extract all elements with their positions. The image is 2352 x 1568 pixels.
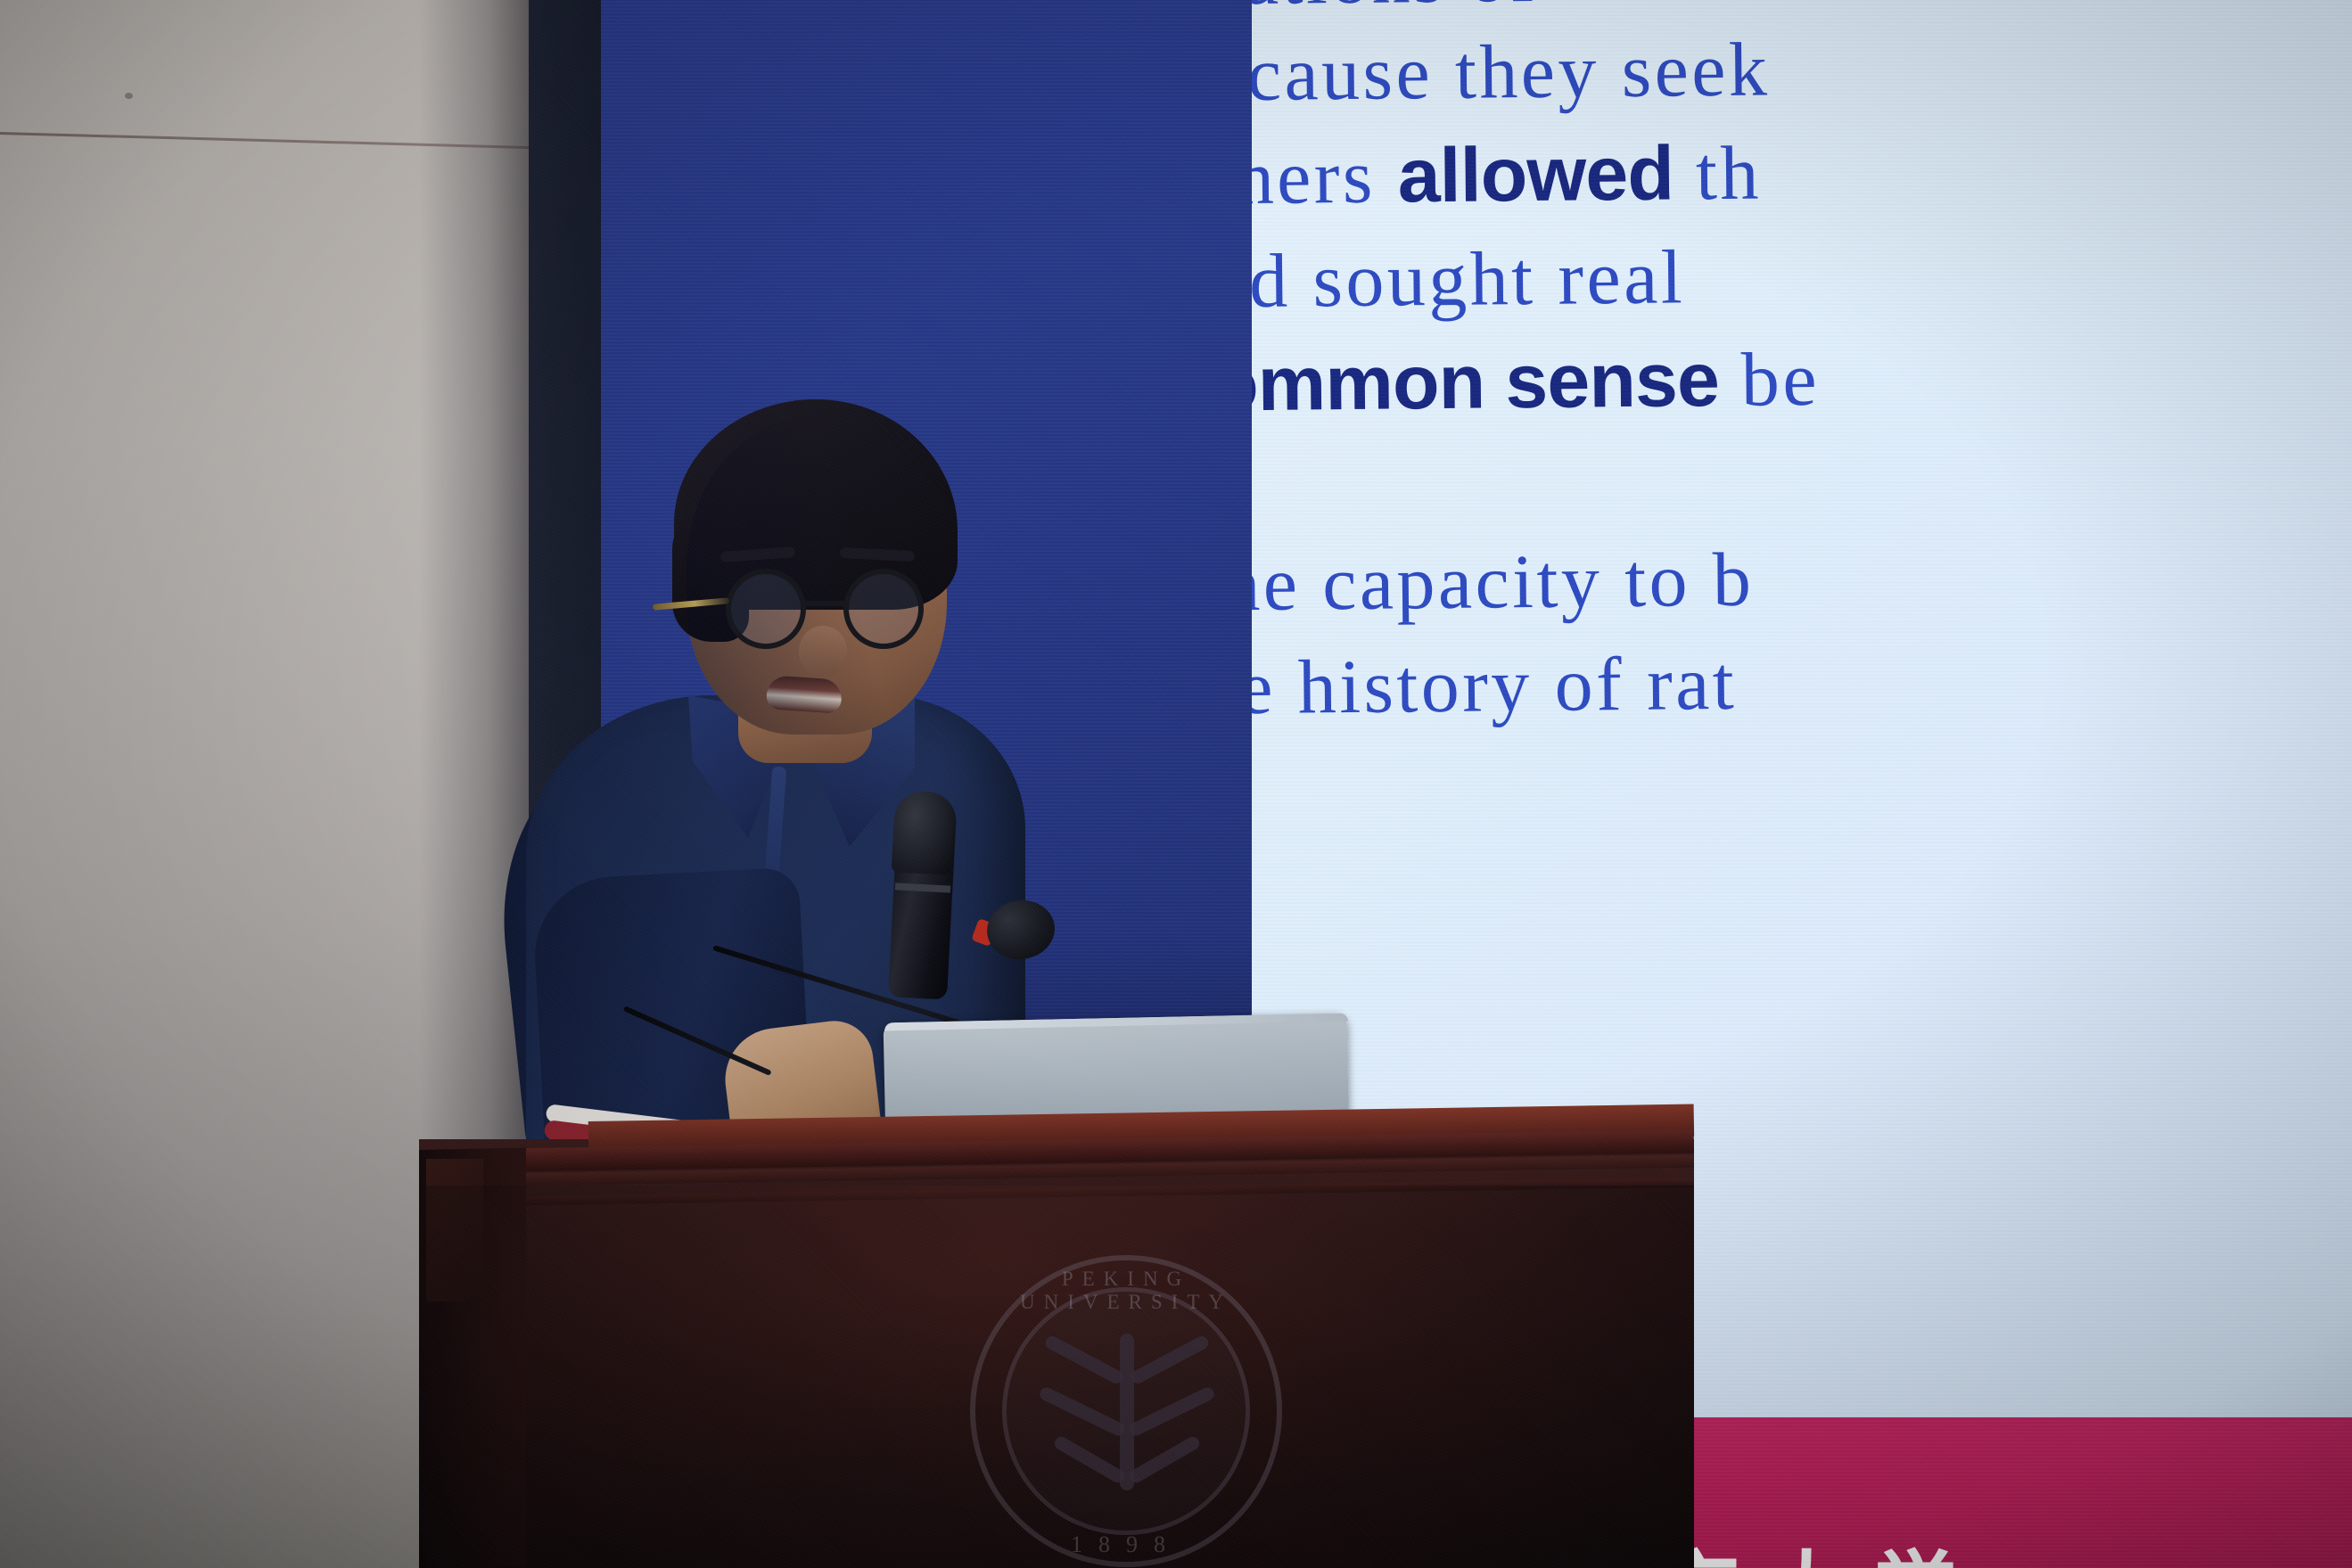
crest-glyph-arm <box>1038 1385 1127 1438</box>
slide-line: because they seek <box>1252 30 1771 112</box>
crest-glyph-arm <box>1127 1434 1202 1485</box>
crest-glyph-arm <box>1127 1385 1216 1438</box>
round-eyeglasses-icon <box>694 569 943 651</box>
crest-label-top: PEKING UNIVERSITY <box>970 1268 1282 1314</box>
crest-glyph-spine <box>1120 1334 1134 1490</box>
eyeglass-lens-right <box>843 569 924 649</box>
slide-line: the history of rat <box>1252 644 1738 727</box>
eyeglass-bridge <box>804 601 847 606</box>
slide-bold-phrase: common sense <box>1252 337 1719 428</box>
slide-line: anations of <box>1252 0 1539 17</box>
slide-line: The capacity to b <box>1252 541 1755 623</box>
crest-glyph-arm <box>1129 1334 1211 1385</box>
slide-text-run: the history of rat <box>1252 640 1738 731</box>
peking-university-crest-icon: PEKING UNIVERSITY 1898 <box>970 1255 1282 1567</box>
crest-glyph-arm <box>1043 1334 1125 1385</box>
lecture-photograph: anations of because they seek others all… <box>0 0 2352 1568</box>
slide-bold-phrase: allowed <box>1397 130 1674 218</box>
slide-text-run: anations of <box>1252 0 1539 21</box>
slide-line: common sense be <box>1252 341 1820 423</box>
wall-blemish <box>125 93 133 99</box>
crest-label-year: 1898 <box>970 1531 1282 1558</box>
slide-text-run: be <box>1718 336 1820 423</box>
eyeglass-lens-left <box>726 569 806 649</box>
slide-text-run: The capacity to b <box>1252 537 1755 628</box>
slide-text-run: th <box>1674 130 1763 217</box>
slide-text-run: because they seek <box>1252 26 1771 117</box>
crest-beida-glyph <box>1034 1328 1218 1498</box>
slide-text-run: and sought real <box>1252 234 1685 324</box>
microphone-grille <box>892 790 955 874</box>
slide-line: others allowed th <box>1252 135 1762 217</box>
crest-glyph-arm <box>1052 1434 1127 1485</box>
slide-line: and sought real <box>1252 238 1685 320</box>
slide-text-run: others <box>1252 133 1398 220</box>
